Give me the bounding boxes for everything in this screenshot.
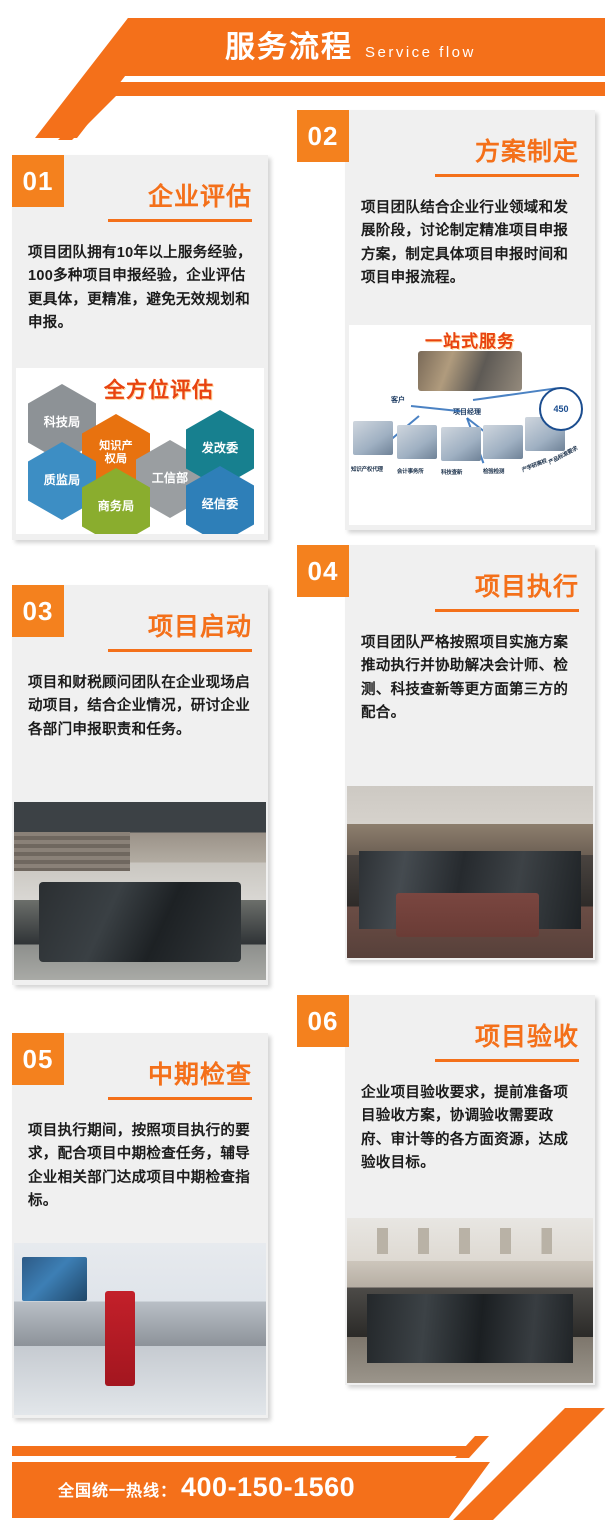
one-stop-node-research — [441, 427, 481, 461]
one-stop-node-label: 检验检测 — [483, 467, 504, 475]
page-title-en: Service flow — [365, 44, 476, 61]
hex-node-label: 工信部 — [152, 472, 189, 486]
one-stop-title: 一站式服务 — [425, 327, 515, 352]
one-stop-label-manager: 项目经理 — [453, 407, 481, 417]
hotline-label: 全国统一热线： — [58, 1477, 177, 1501]
hex-node-label: 科技局 — [44, 416, 81, 430]
hex-assessment-diagram: 全方位评估 科技局 知识产权局 质监局 工信部 商务局 发改委 经信委 — [16, 368, 264, 534]
card-body-05: 项目执行期间，按照项目执行的要求，配合项目中期检查任务，辅导企业相关部门达成项目… — [28, 1120, 254, 1214]
card-title-rule-03 — [108, 649, 252, 652]
card-title-02: 方案制定 — [345, 110, 595, 168]
hex-node-label: 发改委 — [202, 442, 239, 456]
card-body-03: 项目和财税顾问团队在企业现场启动项目，结合企业情况，研讨企业各部门申报职责和任务… — [28, 672, 254, 742]
card-number-badge-06: 06 — [297, 995, 349, 1047]
one-stop-node-label: 会计事务所 — [397, 467, 424, 475]
card-number-badge-05: 05 — [12, 1033, 64, 1085]
card-body-01: 项目团队拥有10年以上服务经验，100多种项目申报经验，企业评估更具体，更精准，… — [28, 242, 254, 336]
working-session-photo — [347, 786, 593, 958]
one-stop-node-label: 知识产权代理 — [351, 465, 383, 473]
card-title-rule-01 — [108, 219, 252, 222]
header-title-group: 服务流程 Service flow — [225, 28, 476, 68]
footer-band-thin — [12, 1446, 475, 1456]
card-title-rule-04 — [435, 609, 579, 612]
hex-node-label: 经信委 — [202, 498, 239, 512]
card-number-badge-02: 02 — [297, 110, 349, 162]
card-title-06: 项目验收 — [345, 995, 595, 1053]
card-body-04: 项目团队严格按照项目实施方案推动执行并协助解决会计师、检测、科技查新等更方面第三… — [361, 632, 581, 726]
card-title-04: 项目执行 — [345, 545, 595, 603]
one-stop-node-accounting — [397, 425, 437, 459]
hex-diagram-title: 全方位评估 — [104, 374, 214, 404]
hex-node-label: 质监局 — [44, 474, 81, 488]
showroom-visit-photo — [14, 1243, 266, 1415]
card-number-badge-03: 03 — [12, 585, 64, 637]
card-number-badge-01: 01 — [12, 155, 64, 207]
hex-node-label: 商务局 — [98, 500, 135, 514]
card-body-02: 项目团队结合企业行业领域和发展阶段，讨论制定精准项目申报方案，制定具体项目申报时… — [361, 197, 581, 291]
acceptance-meeting-photo — [347, 1218, 593, 1383]
one-stop-label-customer: 客户 — [391, 395, 405, 405]
certification-seal-icon: 450 — [539, 387, 583, 431]
hex-node-label: 知识产权局 — [94, 440, 138, 465]
card-title-rule-06 — [435, 1059, 579, 1062]
one-stop-node-ip — [353, 421, 393, 455]
one-stop-node-label: 产学研高校 — [520, 456, 548, 473]
one-stop-hub-photo — [418, 351, 522, 391]
page-title-cn: 服务流程 — [225, 28, 353, 68]
hotline-group: 全国统一热线： 400-150-1560 — [58, 1472, 355, 1503]
one-stop-service-diagram: 一站式服务 客户 项目经理 知识产权代理 会计事务所 科技查新 检验检测 产学研… — [349, 325, 591, 525]
header-band-bottom — [106, 82, 605, 96]
card-number-badge-04: 04 — [297, 545, 349, 597]
page-header: 服务流程 Service flow — [0, 0, 605, 108]
card-body-06: 企业项目验收要求，提前准备项目验收方案，协调验收需要政府、审计等的各方面资源，达… — [361, 1082, 581, 1176]
card-title-rule-02 — [435, 174, 579, 177]
hotline-number[interactable]: 400-150-1560 — [181, 1472, 355, 1503]
meeting-room-photo — [14, 802, 266, 980]
one-stop-node-label: 科技查新 — [441, 468, 462, 476]
one-stop-node-testing — [483, 425, 523, 459]
page-footer: 全国统一热线： 400-150-1560 — [0, 1408, 605, 1538]
card-title-rule-05 — [108, 1097, 252, 1100]
